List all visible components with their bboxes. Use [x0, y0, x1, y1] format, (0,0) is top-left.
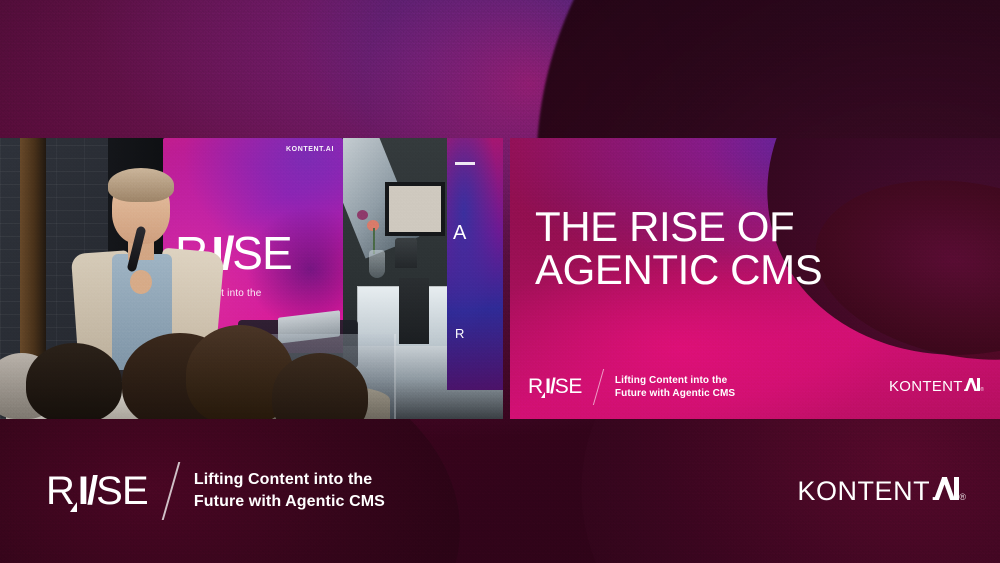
bottom-bar-left: R I/ SE Lifting Content into the Future … — [46, 462, 385, 520]
speaker-photo: KONTENT.AI RISE R I/ SE g Content into t… — [0, 138, 503, 419]
slide-title: THE RISE OF AGENTIC CMS — [535, 206, 935, 292]
slide-kontent-logo: KONTENT . ® — [889, 378, 984, 395]
rise-letters-se: SE — [555, 375, 582, 399]
rise-bold-islash: I/ — [78, 469, 96, 514]
kontent-wordmark: KONTENT — [889, 378, 963, 395]
footer-rise-logo: R I/ SE — [46, 469, 148, 514]
photo-wall-art — [385, 182, 445, 236]
photo-secondary-banner-bar — [455, 162, 475, 165]
rise-tick-icon — [70, 502, 77, 512]
slide-footer-tagline: Lifting Content into the Future with Age… — [615, 374, 735, 400]
photo-flower-purple — [357, 210, 368, 220]
footer-kontent-logo: KONTENT . ® — [797, 476, 966, 507]
rise-tick-icon — [541, 392, 545, 398]
kontent-trademark: ® — [980, 387, 984, 393]
bottom-brand-bar: R I/ SE Lifting Content into the Future … — [0, 419, 1000, 563]
kontent-wordmark: KONTENT — [797, 476, 930, 507]
slide-canvas: KONTENT.AI RISE R I/ SE g Content into t… — [0, 0, 1000, 563]
photo-speaker-hand — [130, 270, 152, 294]
photo-secondary-banner-letter-r: R — [455, 326, 464, 341]
slide-footer-right: KONTENT . ® — [889, 378, 984, 396]
photo-credenza-panel — [399, 278, 429, 344]
slide-title-line-1: THE RISE OF — [535, 206, 935, 249]
photo-rise-se: SE — [232, 226, 292, 280]
kontent-trademark: ® — [959, 492, 966, 502]
rise-letters-se: SE — [96, 469, 148, 514]
photo-secondary-banner-letter-a: A — [453, 222, 466, 245]
presentation-slide: THE RISE OF AGENTIC CMS R I/ SE Lifting … — [510, 138, 1000, 419]
photo-vase — [369, 250, 385, 278]
footer-tagline: Lifting Content into the Future with Age… — [194, 469, 385, 512]
slide-footer: R I/ SE Lifting Content into the Future … — [510, 355, 1000, 419]
slide-rise-logo: R I/ SE — [528, 375, 582, 399]
slide-footer-divider — [593, 369, 604, 405]
photo-lamp — [395, 238, 417, 268]
photo-banner-kontent-logo: KONTENT.AI — [286, 146, 334, 153]
footer-divider — [162, 462, 181, 520]
photo-audience-head-2 — [26, 343, 122, 419]
rise-bold-islash: I/ — [545, 375, 555, 399]
bottom-bar-right: KONTENT . ® — [797, 476, 966, 507]
content-panels: KONTENT.AI RISE R I/ SE g Content into t… — [0, 138, 1000, 419]
kontent-ai-mark — [967, 378, 980, 391]
kontent-ai-mark — [938, 477, 959, 500]
slide-title-line-2: AGENTIC CMS — [535, 249, 935, 292]
slide-footer-left: R I/ SE Lifting Content into the Future … — [528, 369, 735, 405]
photo-speaker-hair — [108, 168, 174, 202]
photo-secondary-banner: A R — [447, 138, 503, 390]
